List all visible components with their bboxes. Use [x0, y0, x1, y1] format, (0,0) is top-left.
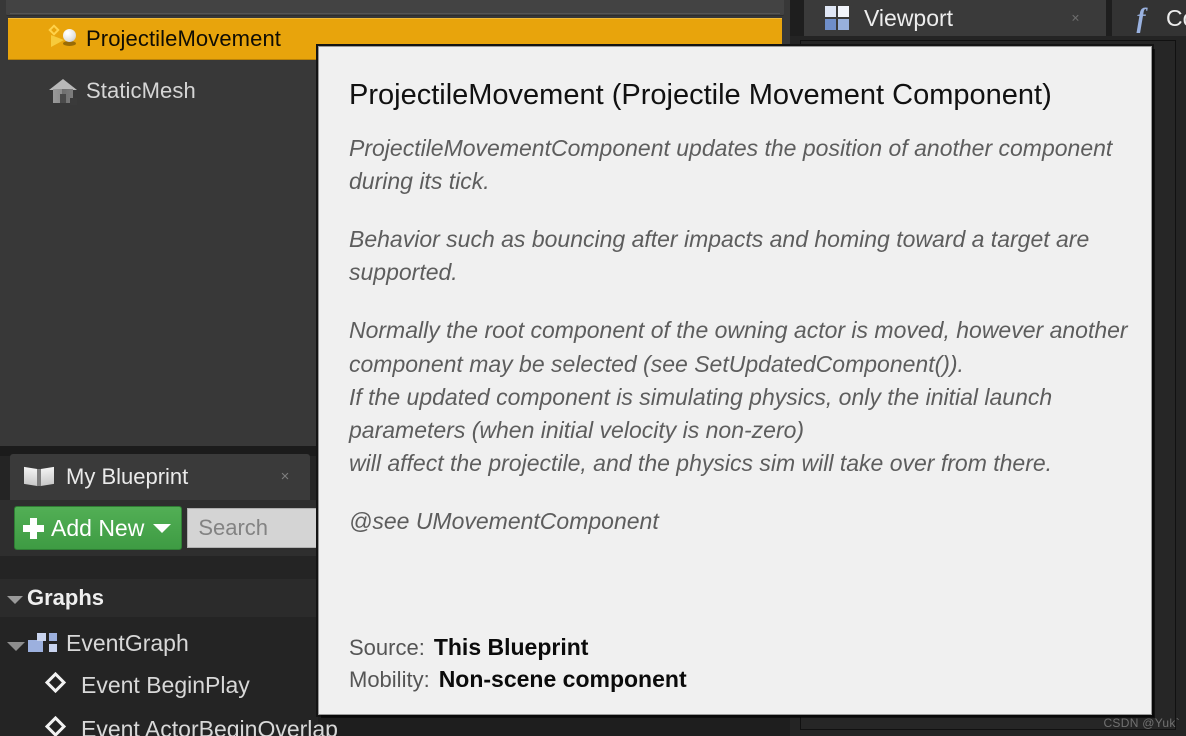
tree-item-event-actorbeginoverlap-label: Event ActorBeginOverlap [81, 716, 338, 736]
search-placeholder: Search [198, 515, 268, 541]
tooltip-title: ProjectileMovement (Projectile Movement … [349, 79, 1129, 112]
tree-item-event-beginplay[interactable]: Event BeginPlay [0, 663, 318, 707]
section-header-graphs[interactable]: Graphs [0, 579, 318, 617]
tooltip-paragraph-4: If the updated component is simulating p… [349, 381, 1129, 447]
collapse-triangle-icon [7, 596, 23, 604]
tree-item-event-graph[interactable]: EventGraph [0, 621, 318, 665]
my-blueprint-title: My Blueprint [66, 464, 188, 490]
tab-construction-script-label: Co [1166, 5, 1186, 32]
projectile-movement-icon [48, 24, 78, 54]
my-blueprint-toolbar: Add New Search [0, 500, 318, 556]
tree-item-event-actorbeginoverlap[interactable]: Event ActorBeginOverlap [0, 707, 318, 736]
component-row-partial-above[interactable] [6, 0, 784, 16]
tooltip-meta-row-mobility: Mobility: Non-scene component [349, 666, 1129, 693]
event-node-icon [44, 671, 72, 699]
tab-viewport-label: Viewport [864, 5, 953, 32]
collapse-triangle-icon [7, 642, 25, 651]
event-graph-icon [28, 631, 58, 655]
tooltip-meta-row-source: Source: This Blueprint [349, 634, 1129, 661]
tooltip-paragraph-3: Normally the root component of the ownin… [349, 314, 1129, 380]
function-fx-icon: f [1128, 5, 1154, 31]
component-tooltip: ProjectileMovement (Projectile Movement … [318, 46, 1152, 715]
tooltip-paragraph-1: ProjectileMovementComponent updates the … [349, 132, 1129, 198]
editor-tab-bar: Viewport × f Co [790, 0, 1186, 36]
tree-item-event-graph-label: EventGraph [66, 630, 189, 657]
static-mesh-icon [48, 76, 78, 106]
add-new-button[interactable]: Add New [14, 506, 182, 550]
watermark: CSDN @Yuk` [1103, 716, 1180, 730]
tooltip-spacer [349, 480, 1129, 505]
tooltip-paragraph-2: Behavior such as bouncing after impacts … [349, 223, 1129, 289]
tooltip-mobility-value: Non-scene component [439, 666, 687, 693]
tooltip-source-key: Source: [349, 635, 425, 661]
tooltip-paragraph-5: will affect the projectile, and the phys… [349, 447, 1129, 480]
viewport-grid-icon [824, 5, 850, 31]
tab-my-blueprint[interactable]: My Blueprint × [10, 454, 310, 500]
app-window: ProjectileMovement StaticMesh Viewport ×… [0, 0, 1186, 736]
search-input[interactable]: Search [187, 508, 318, 548]
tooltip-spacer [349, 289, 1129, 314]
blueprint-book-icon [24, 465, 54, 489]
tab-viewport-close-icon[interactable]: × [1067, 10, 1084, 27]
add-new-label: Add New [51, 515, 144, 542]
tooltip-mobility-key: Mobility: [349, 667, 430, 693]
tab-viewport[interactable]: Viewport × [804, 0, 1106, 36]
tooltip-paragraph-6: @see UMovementComponent [349, 505, 1129, 538]
component-label-static-mesh: StaticMesh [86, 78, 196, 104]
chevron-down-icon [153, 524, 171, 533]
event-node-icon [44, 715, 72, 736]
tooltip-source-value: This Blueprint [434, 634, 589, 661]
component-label-projectile-movement: ProjectileMovement [86, 26, 281, 52]
section-header-graphs-label: Graphs [27, 585, 104, 611]
tooltip-spacer [349, 198, 1129, 223]
plus-icon [23, 518, 44, 539]
my-blueprint-close-icon[interactable]: × [276, 468, 294, 486]
tab-construction-script[interactable]: f Co [1112, 0, 1186, 36]
tooltip-meta-block: Source: This Blueprint Mobility: Non-sce… [349, 634, 1129, 698]
tree-item-event-beginplay-label: Event BeginPlay [81, 672, 250, 699]
